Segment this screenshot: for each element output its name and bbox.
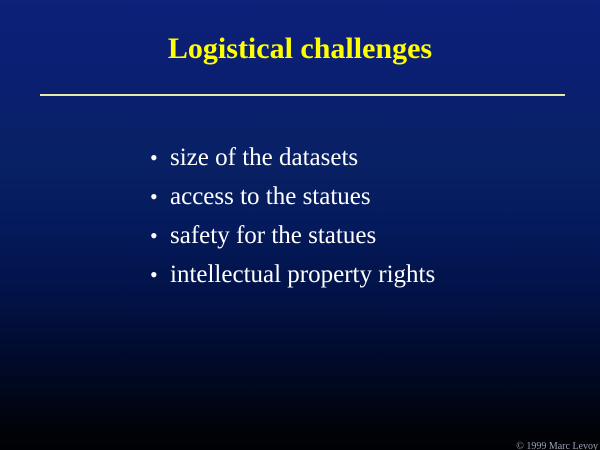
bullet-point-icon: •	[150, 177, 170, 216]
copyright-footer: © 1999 Marc Levoy	[516, 441, 598, 450]
list-item: • access to the statues	[150, 177, 570, 216]
bullet-item-label: size of the datasets	[170, 144, 358, 171]
list-item: • intellectual property rights	[150, 255, 570, 294]
bullet-point-icon: •	[150, 255, 170, 294]
list-item: • safety for the statues	[150, 216, 570, 255]
slide-title: Logistical challenges	[0, 32, 600, 66]
presentation-slide: Logistical challenges • size of the data…	[0, 0, 600, 450]
bullet-point-icon: •	[150, 138, 170, 177]
bullet-item-label: safety for the statues	[170, 222, 376, 249]
bullet-list: • size of the datasets • access to the s…	[150, 138, 570, 294]
bullet-item-label: intellectual property rights	[170, 261, 435, 288]
title-divider-rule	[40, 94, 565, 96]
bullet-point-icon: •	[150, 216, 170, 255]
list-item: • size of the datasets	[150, 138, 570, 177]
bullet-item-label: access to the statues	[170, 183, 371, 210]
